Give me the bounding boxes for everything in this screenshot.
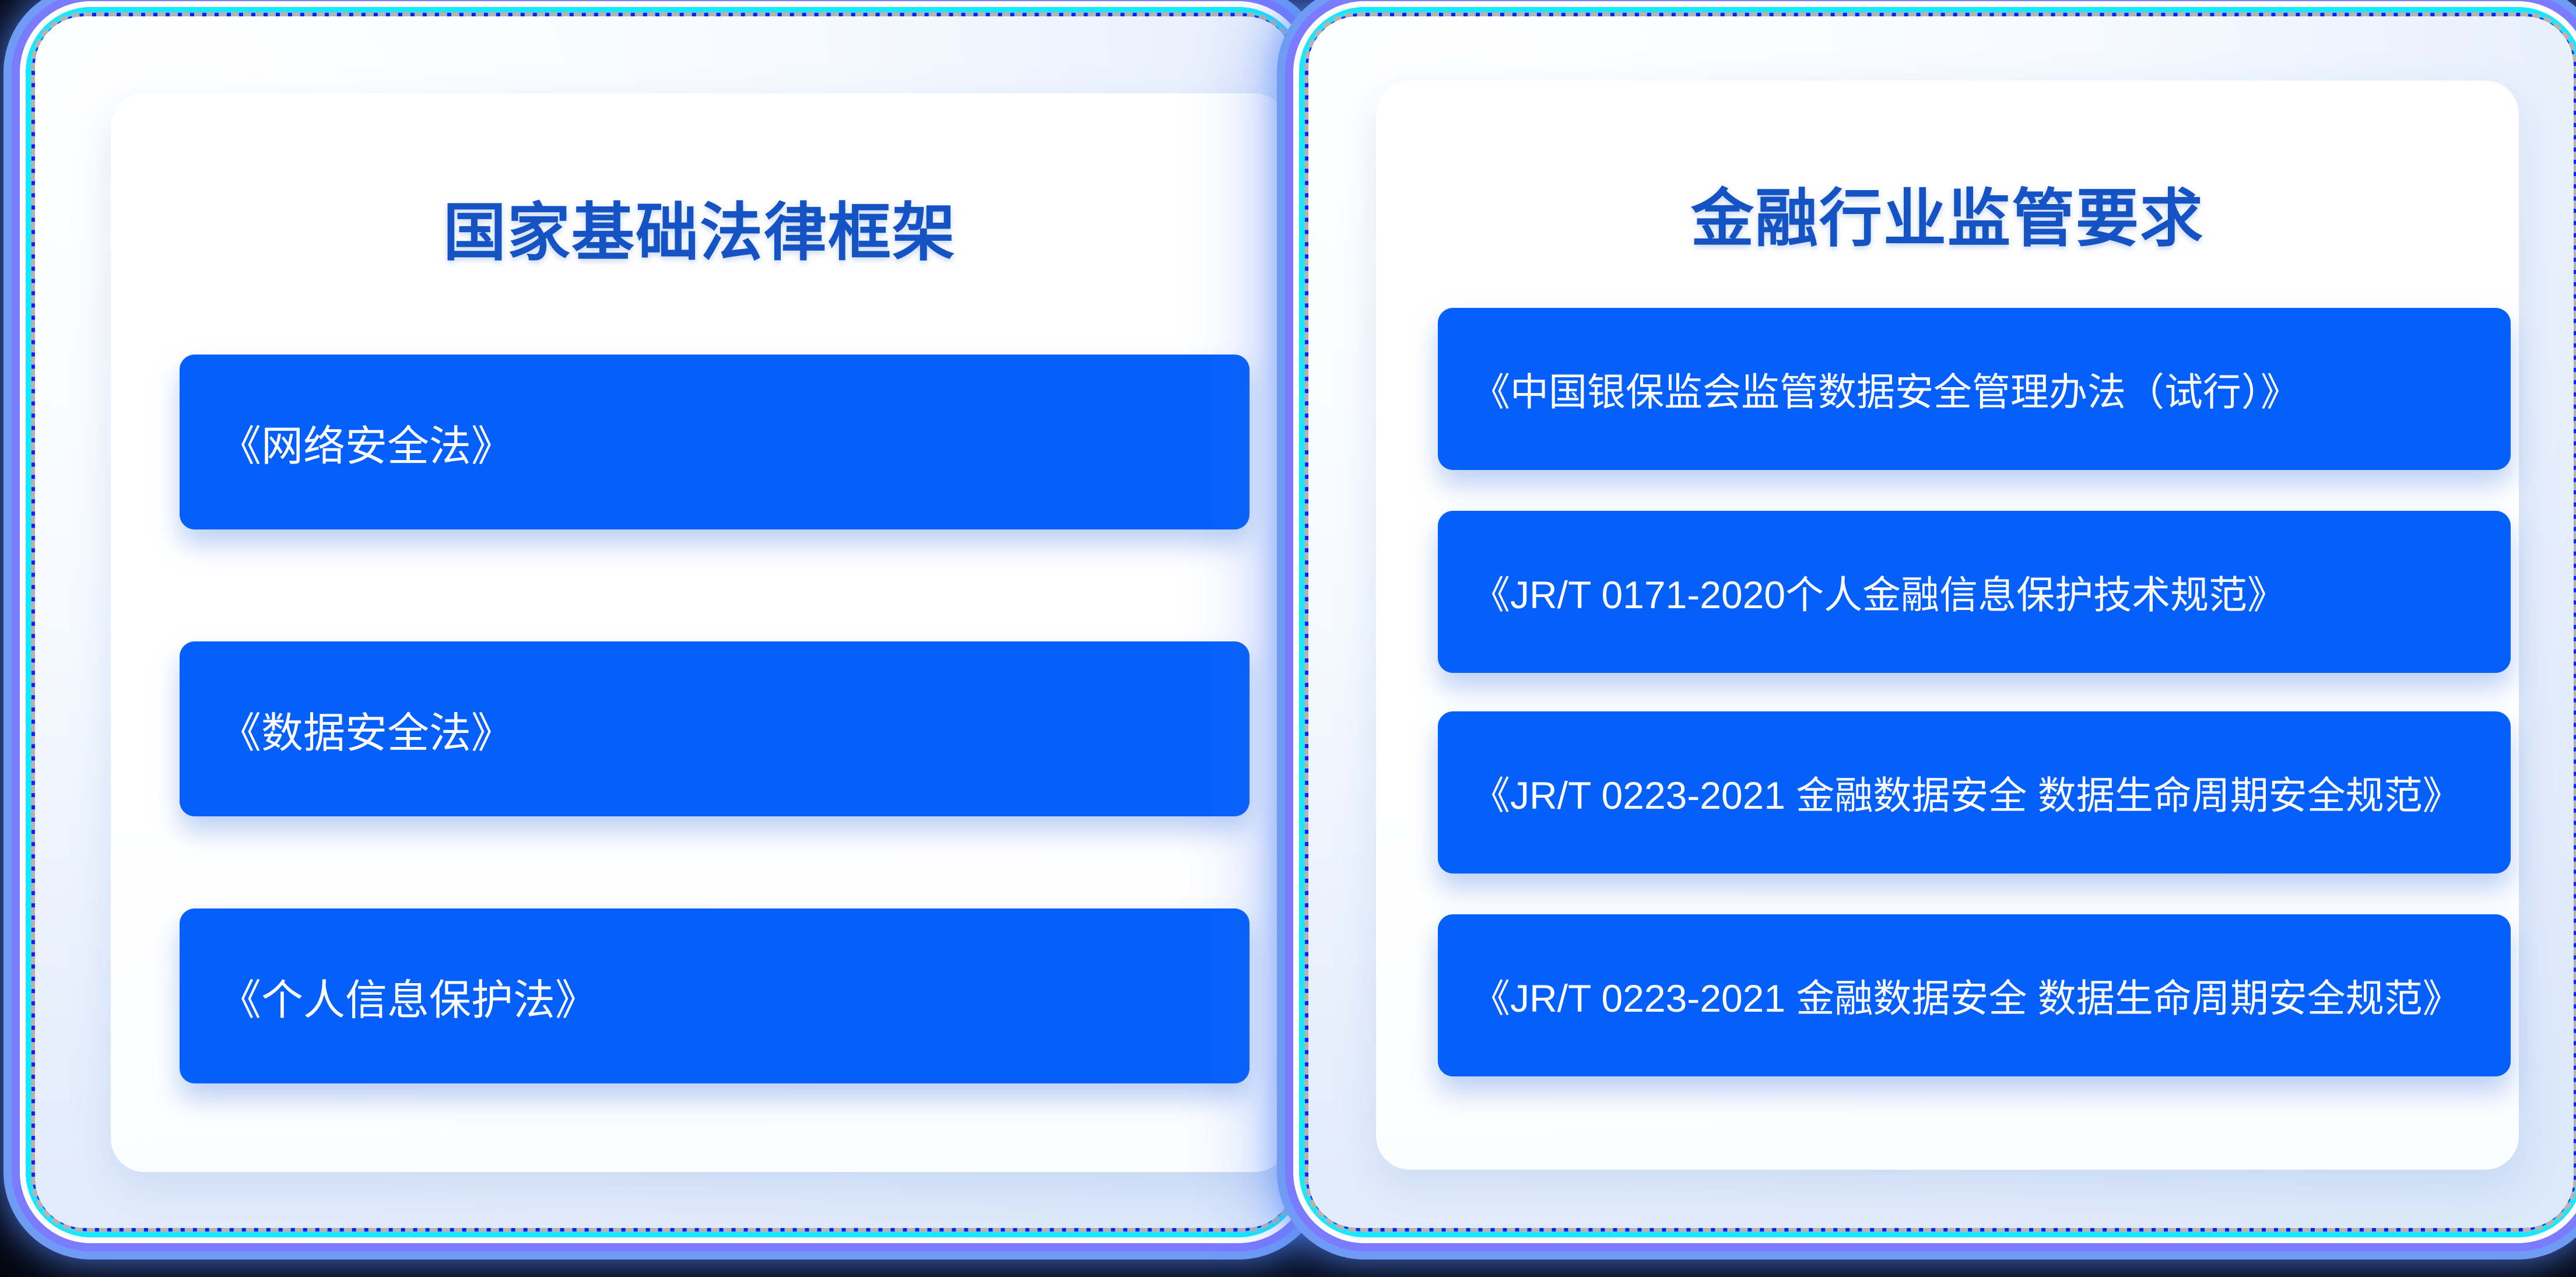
right-panel-item-0[interactable]: 《中国银保监会监管数据安全管理办法（试行）》 xyxy=(1438,308,2511,470)
left-panel-item-1[interactable]: 《数据安全法》 xyxy=(180,641,1250,816)
right-panel-title: 金融行业监管要求 xyxy=(1376,168,2519,259)
right-panel-item-1[interactable]: 《JR/T 0171-2020个人金融信息保护技术规范》 xyxy=(1438,511,2511,673)
right-panel-card: 金融行业监管要求 《中国银保监会监管数据安全管理办法（试行）》 《JR/T 01… xyxy=(1376,80,2519,1170)
left-panel-title: 国家基础法律框架 xyxy=(111,182,1289,273)
right-panel-item-2[interactable]: 《JR/T 0223-2021 金融数据安全 数据生命周期安全规范》 xyxy=(1438,711,2511,873)
right-panel-container[interactable]: 金融行业监管要求 《中国银保监会监管数据安全管理办法（试行）》 《JR/T 01… xyxy=(1308,16,2574,1228)
right-panel-item-1-label: 《JR/T 0171-2020个人金融信息保护技术规范》 xyxy=(1472,564,2286,620)
left-panel-item-1-label: 《数据安全法》 xyxy=(219,699,513,760)
left-panel-container[interactable]: 国家基础法律框架 《网络安全法》 《数据安全法》 《个人信息保护法》 xyxy=(35,16,1294,1228)
right-panel-item-3-label: 《JR/T 0223-2021 金融数据安全 数据生命周期安全规范》 xyxy=(1472,967,2461,1023)
left-panel-item-2[interactable]: 《个人信息保护法》 xyxy=(180,908,1250,1083)
right-panel-item-0-label: 《中国银保监会监管数据安全管理办法（试行）》 xyxy=(1472,361,2299,417)
left-panel-card: 国家基础法律框架 《网络安全法》 《数据安全法》 《个人信息保护法》 xyxy=(111,93,1289,1172)
right-panel-item-3[interactable]: 《JR/T 0223-2021 金融数据安全 数据生命周期安全规范》 xyxy=(1438,914,2511,1076)
left-panel-item-0[interactable]: 《网络安全法》 xyxy=(180,355,1250,529)
slide-canvas: 国家基础法律框架 《网络安全法》 《数据安全法》 《个人信息保护法》 金融行业监… xyxy=(0,0,2576,1277)
left-panel-item-0-label: 《网络安全法》 xyxy=(219,412,513,473)
left-panel-item-2-label: 《个人信息保护法》 xyxy=(219,966,597,1027)
right-panel-item-2-label: 《JR/T 0223-2021 金融数据安全 数据生命周期安全规范》 xyxy=(1472,764,2461,820)
